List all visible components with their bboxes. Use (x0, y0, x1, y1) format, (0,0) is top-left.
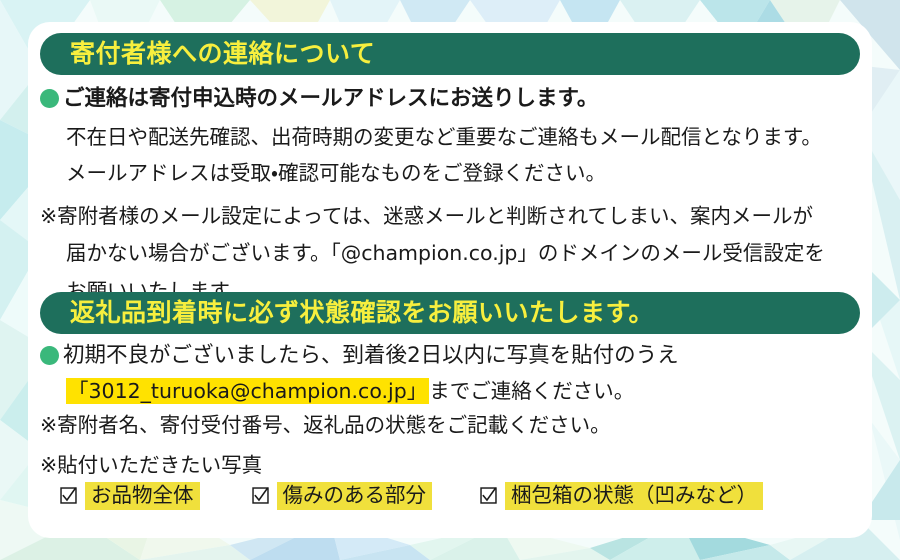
checklist-item-1[interactable]: お品物全体 (60, 482, 200, 510)
contact-email[interactable]: 3012_turuoka@champion.co.jp (89, 379, 407, 403)
checklist-label-1: お品物全体 (85, 482, 200, 510)
section1-body: ご連絡は寄付申込時のメールアドレスにお送りします。 不在日や配送先確認、出荷時期… (40, 88, 825, 301)
checklist-item-3[interactable]: 梱包箱の状態（凹みなど） (480, 482, 763, 510)
section2-note-line-2: ※貼付いただきたい写真 (40, 455, 679, 476)
email-highlight: 「3012_turuoka@champion.co.jp」 (66, 378, 429, 404)
section2-lead-text: 初期不良がございましたら、到着後2日以内に写真を貼付のうえ (63, 345, 679, 367)
email-close-bracket: 」 (407, 379, 428, 403)
section1-note-line-2: 届かない場合がございます。「@champion.co.jp」のドメインのメール受… (66, 243, 825, 264)
section1-lead-line: ご連絡は寄付申込時のメールアドレスにお送りします。 (40, 88, 825, 110)
section1-sub-line-1: 不在日や配送先確認、出荷時期の変更など重要なご連絡もメール配信となります。 (66, 127, 825, 148)
section2-body: 初期不良がございましたら、到着後2日以内に写真を貼付のうえ 「3012_turu… (40, 345, 679, 475)
section1-note-line-1: ※寄附者様のメール設定によっては、迷惑メールと判断されてしまい、案内メールが (40, 206, 825, 227)
checkbox-checked-icon[interactable] (252, 487, 269, 504)
section2-heading-text: 返礼品到着時に必ず状態確認をお願いいたします。 (70, 300, 654, 325)
checklist-label-3: 梱包箱の状態（凹みなど） (505, 482, 763, 510)
section2-email-line: 「3012_turuoka@champion.co.jp」までご連絡ください。 (66, 381, 679, 402)
section2-heading-pill: 返礼品到着時に必ず状態確認をお願いいたします。 (40, 292, 860, 334)
checkbox-checked-icon[interactable] (60, 487, 77, 504)
section1-sub-line-2: メールアドレスは受取・確認可能なものをご登録ください。 (66, 163, 825, 184)
poster-stage: 寄付者様への連絡について ご連絡は寄付申込時のメールアドレスにお送りします。 不… (0, 0, 900, 560)
email-open-bracket: 「 (68, 379, 89, 403)
checklist-label-2: 傷みのある部分 (277, 482, 433, 510)
filled-circle-bullet-icon (40, 89, 59, 108)
checkbox-checked-icon[interactable] (480, 487, 497, 504)
photo-checklist: お品物全体 傷みのある部分 梱包箱の状態（凹みなど） (60, 482, 763, 510)
section2-lead-line: 初期不良がございましたら、到着後2日以内に写真を貼付のうえ (40, 345, 679, 367)
section2-note-line-1: ※寄附者名、寄付受付番号、返礼品の状態をご記載ください。 (40, 415, 679, 436)
section1-heading-pill: 寄付者様への連絡について (40, 33, 860, 75)
section1-heading-text: 寄付者様への連絡について (70, 41, 375, 66)
filled-circle-bullet-icon (40, 346, 59, 365)
section1-lead-text: ご連絡は寄付申込時のメールアドレスにお送りします。 (63, 88, 598, 110)
email-line-tail: までご連絡ください。 (429, 379, 634, 403)
checklist-item-2[interactable]: 傷みのある部分 (252, 482, 433, 510)
